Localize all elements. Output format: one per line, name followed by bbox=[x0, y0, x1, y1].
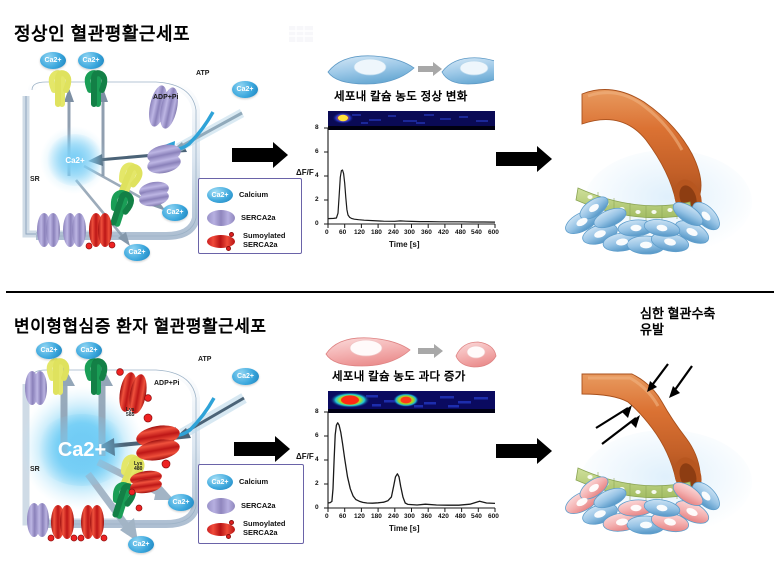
calcium-bubble: Ca2+ bbox=[36, 342, 62, 359]
x-tick-360: 360 bbox=[421, 229, 432, 236]
calcium-store-label: Ca2+ bbox=[58, 439, 106, 462]
x-tick-120: 120 bbox=[354, 229, 365, 236]
sumoylated-serca2a-icon bbox=[207, 521, 237, 537]
calcium-bubble: Ca2+ bbox=[76, 342, 102, 359]
lys-585-number: 585 bbox=[126, 412, 134, 418]
sumoylated-serca2a-pump bbox=[48, 505, 77, 541]
x-tick-180: 180 bbox=[371, 229, 382, 236]
x-tick-480: 480 bbox=[455, 229, 466, 236]
calcium-bubble: Ca2+ bbox=[124, 244, 150, 261]
sumo-dot bbox=[226, 534, 231, 539]
arrow-head bbox=[434, 344, 443, 358]
calcium-bubble: Ca2+ bbox=[162, 204, 188, 221]
sr-label: SR bbox=[30, 176, 40, 183]
arrow-shaft bbox=[232, 148, 273, 162]
x-tick-300: 300 bbox=[404, 513, 415, 520]
cell-shapes-svg-disease bbox=[320, 332, 500, 372]
sumo-dot bbox=[229, 232, 234, 237]
y-axis-title-normal: ΔF/F bbox=[296, 168, 314, 177]
sumo-label-line2: SERCA2a bbox=[243, 240, 278, 249]
x-tick-540: 540 bbox=[471, 229, 482, 236]
y-tick-0: 0 bbox=[315, 220, 319, 227]
sumoylated-serca2a-pump bbox=[78, 505, 107, 541]
arrow-head bbox=[433, 62, 442, 76]
calcium-ion-icon: Ca2+ bbox=[207, 474, 233, 490]
cell-morphology-normal bbox=[322, 50, 494, 90]
x-axis-title-disease: Time [s] bbox=[389, 524, 420, 533]
y-tick-0: 0 bbox=[315, 504, 319, 511]
calcium-bubble-label: Ca2+ bbox=[237, 373, 254, 380]
panel-title-normal: 정상인 혈관평활근세포 bbox=[14, 20, 190, 46]
vessel-svg-disease bbox=[540, 332, 780, 562]
sr-label: SR bbox=[30, 466, 40, 473]
calcium-bubble: Ca2+ bbox=[128, 536, 154, 553]
legend-item-calcium: Ca2+ Calcium bbox=[207, 474, 268, 490]
atp-label: ATP bbox=[198, 356, 211, 363]
arrow-shaft bbox=[418, 348, 434, 354]
flow-arrow-3 bbox=[234, 436, 290, 462]
x-tick-60: 60 bbox=[339, 229, 346, 236]
calcium-bubble-label: Ca2+ bbox=[41, 347, 58, 354]
calcium-ion-icon: Ca2+ bbox=[207, 187, 233, 203]
legend-label-calcium: Calcium bbox=[239, 478, 268, 487]
y-tick-4: 4 bbox=[315, 456, 319, 463]
arrow-shaft bbox=[234, 442, 275, 456]
transition-arrow bbox=[418, 344, 444, 358]
arrow-shaft bbox=[418, 66, 433, 72]
x-tick-240: 240 bbox=[388, 513, 399, 520]
cell-shapes-svg bbox=[322, 50, 494, 90]
lys-480-number: 480 bbox=[134, 466, 142, 472]
x-tick-360: 360 bbox=[421, 513, 432, 520]
serca2a-icon bbox=[207, 210, 235, 226]
sumo-dot bbox=[226, 246, 231, 251]
arrow-shaft bbox=[496, 444, 537, 458]
y-tick-4: 4 bbox=[315, 172, 319, 179]
calcium-bubble: Ca2+ bbox=[168, 494, 194, 511]
x-tick-600: 600 bbox=[488, 513, 499, 520]
atp-label: ATP bbox=[196, 70, 209, 77]
adp-pi-label: ADP+Pi bbox=[153, 94, 178, 101]
x-tick-600: 600 bbox=[488, 229, 499, 236]
calcium-bubble-label: Ca2+ bbox=[129, 249, 146, 256]
serca2a-pump bbox=[27, 503, 49, 537]
legend-disease: Ca2+ Calcium SERCA2a Sumoylated SERCA2a bbox=[198, 464, 304, 544]
arrow-shaft bbox=[496, 152, 537, 166]
calcium-bubble-label: Ca2+ bbox=[45, 57, 62, 64]
y-tick-8: 8 bbox=[315, 124, 319, 131]
plot-axes-normal bbox=[300, 108, 500, 258]
calcium-store-label: Ca2+ bbox=[65, 156, 84, 165]
x-tick-0: 0 bbox=[325, 229, 329, 236]
watermark-artifact bbox=[287, 24, 317, 46]
vessel-normal bbox=[540, 62, 780, 290]
serca2a-pump bbox=[146, 84, 181, 130]
legend-item-calcium: Ca2+ Calcium bbox=[207, 187, 268, 203]
chart-calcium-trace-normal: 0 2 4 6 8 0 60 120 180 240 300 360 420 4… bbox=[300, 108, 500, 258]
x-tick-0: 0 bbox=[325, 513, 329, 520]
arrow-head bbox=[273, 142, 288, 168]
serca2a-icon bbox=[207, 498, 235, 514]
lys-site-585: Lys 585 bbox=[126, 408, 134, 419]
calcium-bubble: Ca2+ bbox=[78, 52, 104, 69]
calcium-bubble-label: Ca2+ bbox=[83, 57, 100, 64]
annotation-line1: 심한 혈관수축 bbox=[640, 306, 715, 321]
x-tick-540: 540 bbox=[471, 513, 482, 520]
x-tick-240: 240 bbox=[388, 229, 399, 236]
sumo-dot bbox=[229, 520, 234, 525]
arrow-head bbox=[275, 436, 290, 462]
caption-disease: 세포내 칼슘 농도 과다 증가 bbox=[332, 368, 466, 384]
transition-arrow bbox=[418, 62, 442, 76]
sumo-label-line2: SERCA2a bbox=[243, 528, 278, 537]
legend-label-sumoylated-serca2a: Sumoylated SERCA2a bbox=[243, 520, 286, 537]
vessel-svg-normal bbox=[540, 62, 780, 290]
lys-site-480: Lys 480 bbox=[134, 462, 142, 473]
x-tick-420: 420 bbox=[438, 513, 449, 520]
caption-normal: 세포내 칼슘 농도 정상 변화 bbox=[334, 88, 468, 104]
y-tick-2: 2 bbox=[315, 480, 319, 487]
x-tick-180: 180 bbox=[371, 513, 382, 520]
plot-axes-disease bbox=[300, 388, 500, 543]
calcium-bubble-label: Ca2+ bbox=[81, 347, 98, 354]
panel-disease: 변이형협심증 환자 혈관평활근세포 bbox=[0, 296, 780, 565]
vessel-disease bbox=[540, 332, 780, 562]
calcium-bubble-label: Ca2+ bbox=[237, 86, 254, 93]
legend-label-calcium: Calcium bbox=[239, 191, 268, 200]
y-tick-6: 6 bbox=[315, 148, 319, 155]
serca2a-pump bbox=[146, 142, 183, 177]
x-tick-300: 300 bbox=[404, 229, 415, 236]
legend-item-sumoylated-serca2a: Sumoylated SERCA2a bbox=[207, 520, 286, 537]
y-tick-2: 2 bbox=[315, 196, 319, 203]
calcium-bubble: Ca2+ bbox=[232, 368, 259, 385]
serca2a-pump bbox=[25, 371, 47, 405]
panel-normal: 정상인 혈관평활근세포 bbox=[0, 0, 780, 290]
calcium-bubble-label: Ca2+ bbox=[173, 499, 190, 506]
serca2a-pump bbox=[37, 213, 60, 247]
adp-pi-label: ADP+Pi bbox=[154, 380, 179, 387]
sumoylated-serca2a-icon bbox=[207, 233, 237, 249]
serca2a-pump bbox=[63, 213, 86, 247]
calcium-store-glow-large: Ca2+ bbox=[34, 414, 130, 486]
x-tick-420: 420 bbox=[438, 229, 449, 236]
x-tick-120: 120 bbox=[354, 513, 365, 520]
calcium-bubble: Ca2+ bbox=[40, 52, 66, 69]
panel-title-disease: 변이형협심증 환자 혈관평활근세포 bbox=[14, 312, 267, 337]
cell-morphology-disease bbox=[320, 332, 500, 372]
calcium-bubble-label: Ca2+ bbox=[167, 209, 184, 216]
chart-calcium-trace-disease: 0 2 4 6 8 0 60 120 180 240 300 360 420 4… bbox=[300, 388, 500, 543]
serca2a-pump bbox=[138, 180, 170, 209]
legend-item-serca2a: SERCA2a bbox=[207, 210, 276, 226]
legend-normal: Ca2+ Calcium SERCA2a Sumoylated SERCA2a bbox=[198, 178, 302, 254]
y-tick-6: 6 bbox=[315, 432, 319, 439]
y-tick-8: 8 bbox=[315, 408, 319, 415]
calcium-bubble: Ca2+ bbox=[232, 81, 258, 98]
x-tick-60: 60 bbox=[339, 513, 346, 520]
legend-label-serca2a: SERCA2a bbox=[241, 214, 276, 223]
sumoylated-serca2a-pump bbox=[86, 213, 115, 249]
legend-label-sumoylated-serca2a: Sumoylated SERCA2a bbox=[243, 232, 286, 249]
panel-divider bbox=[6, 291, 774, 293]
calcium-store-glow: Ca2+ bbox=[46, 134, 104, 186]
x-tick-480: 480 bbox=[455, 513, 466, 520]
legend-item-serca2a: SERCA2a bbox=[207, 498, 276, 514]
legend-label-serca2a: SERCA2a bbox=[241, 502, 276, 511]
calcium-bubble-label: Ca2+ bbox=[133, 541, 150, 548]
legend-item-sumoylated-serca2a: Sumoylated SERCA2a bbox=[207, 232, 286, 249]
x-axis-title-normal: Time [s] bbox=[389, 240, 420, 249]
flow-arrow-1 bbox=[232, 142, 288, 168]
y-axis-title-disease: ΔF/F bbox=[296, 452, 314, 461]
